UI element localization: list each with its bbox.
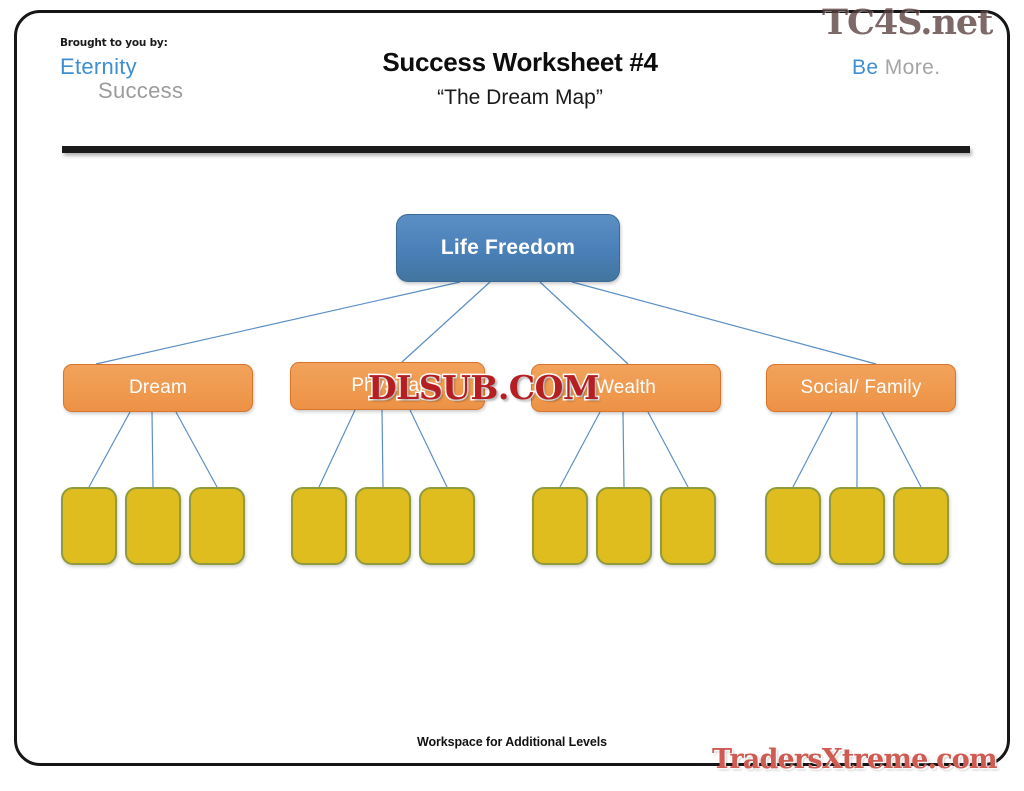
tc4s-watermark: TC4S.net (822, 2, 992, 43)
node-branch-dream-label: Dream (129, 377, 187, 399)
node-leaf-10[interactable] (765, 487, 821, 565)
node-branch-dream[interactable]: Dream (63, 364, 253, 412)
node-leaf-5[interactable] (355, 487, 411, 565)
brand-tagline: Be More. (852, 56, 940, 80)
tradersxtreme-watermark: TradersXtreme.com (712, 744, 997, 775)
node-leaf-12[interactable] (893, 487, 949, 565)
node-leaf-3[interactable] (189, 487, 245, 565)
node-leaf-6[interactable] (419, 487, 475, 565)
node-leaf-2[interactable] (125, 487, 181, 565)
page-title: Success Worksheet #4 (250, 48, 790, 77)
node-leaf-4[interactable] (291, 487, 347, 565)
node-leaf-8[interactable] (596, 487, 652, 565)
tagline-primary-text: Be (852, 56, 879, 79)
node-leaf-9[interactable] (660, 487, 716, 565)
node-root-life-freedom-label: Life Freedom (441, 236, 575, 260)
page-subtitle: “The Dream Map” (250, 86, 790, 109)
node-leaf-7[interactable] (532, 487, 588, 565)
node-branch-wealth-label: Wealth (596, 377, 656, 399)
node-leaf-11[interactable] (829, 487, 885, 565)
node-branch-social-family[interactable]: Social/ Family (766, 364, 956, 412)
title-block: Success Worksheet #4 “The Dream Map” (250, 48, 790, 109)
header-divider (62, 146, 970, 153)
node-root-life-freedom[interactable]: Life Freedom (396, 214, 620, 282)
dlsub-watermark: DLSUB.COM (368, 368, 599, 407)
brand-kicker-text: Brought to you by: (60, 38, 290, 49)
tagline-secondary-text: More. (885, 56, 941, 79)
node-leaf-1[interactable] (61, 487, 117, 565)
node-branch-social-family-label: Social/ Family (800, 377, 921, 399)
